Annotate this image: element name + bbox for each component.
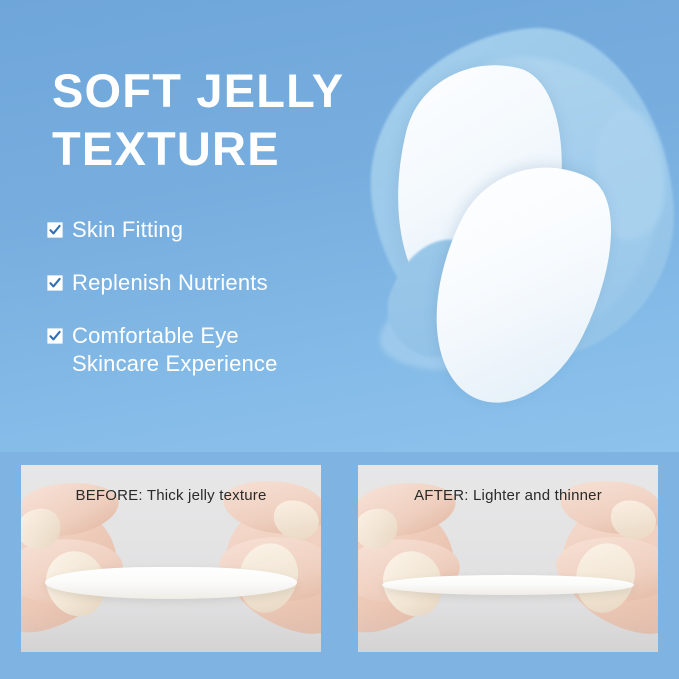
product-poster: SOFT JELLY TEXTURE Skin Fitting [0, 0, 679, 679]
feature-label: Replenish Nutrients [72, 269, 268, 297]
jelly-strip-thick [45, 567, 297, 599]
comparison-panel-after: AFTER: Lighter and thinner [358, 465, 658, 652]
checkbox-checked-icon [47, 328, 63, 344]
checkbox-checked-icon [47, 275, 63, 291]
feature-item-comfortable-eye-skincare: Comfortable Eye Skincare Experience [47, 322, 377, 378]
feature-item-skin-fitting: Skin Fitting [47, 216, 377, 244]
comparison-section: BEFORE: Thick jelly texture AFTER: Light… [0, 452, 679, 679]
checkbox-checked-icon [47, 222, 63, 238]
feature-label: Skin Fitting [72, 216, 183, 244]
photo-shadow [358, 606, 658, 652]
page-title: SOFT JELLY TEXTURE [52, 62, 432, 178]
jelly-strip-thin [382, 575, 634, 595]
feature-label: Comfortable Eye Skincare Experience [72, 322, 278, 378]
panel-caption-after: AFTER: Lighter and thinner [358, 487, 658, 504]
panel-caption-before: BEFORE: Thick jelly texture [21, 487, 321, 504]
feature-item-replenish-nutrients: Replenish Nutrients [47, 269, 377, 297]
hero-section: SOFT JELLY TEXTURE Skin Fitting [0, 0, 679, 452]
photo-shadow [21, 606, 321, 652]
feature-list: Skin Fitting Replenish Nutrients [47, 216, 377, 378]
comparison-panel-before: BEFORE: Thick jelly texture [21, 465, 321, 652]
